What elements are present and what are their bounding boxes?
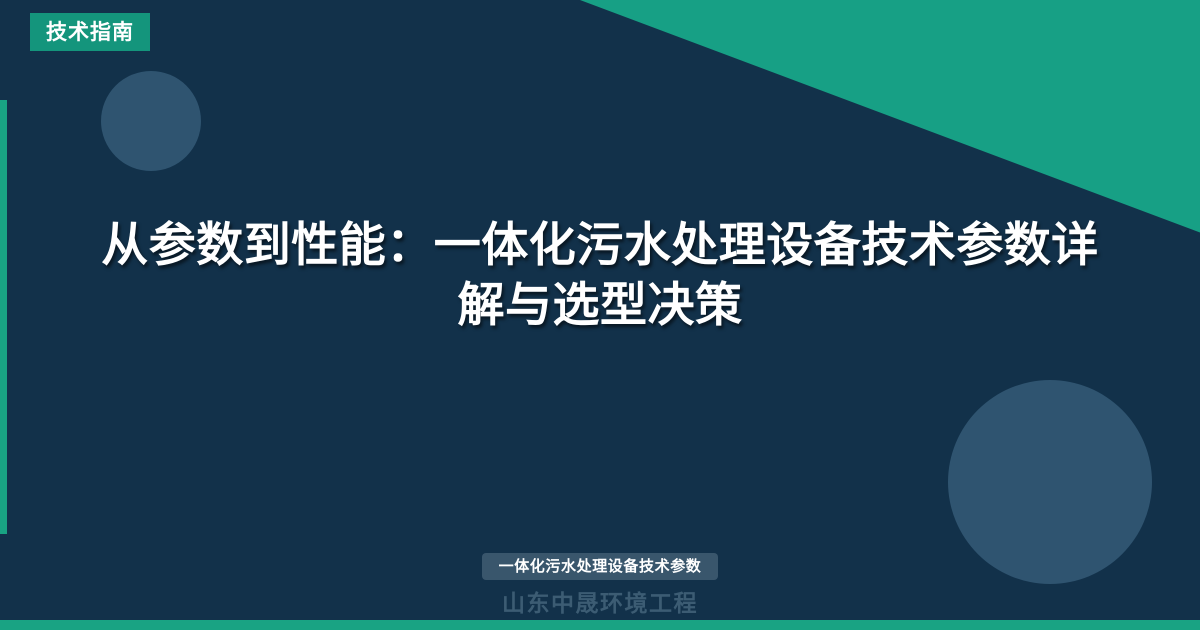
title-block: 从参数到性能：一体化污水处理设备技术参数详解与选型决策 xyxy=(90,215,1110,335)
keyword-tag-row: 一体化污水处理设备技术参数 xyxy=(0,553,1200,580)
category-badge: 技术指南 xyxy=(30,13,150,51)
poster-canvas: 技术指南 从参数到性能：一体化污水处理设备技术参数详解与选型决策 一体化污水处理… xyxy=(0,0,1200,630)
brand-row: 山东中晟环境工程 xyxy=(0,592,1200,615)
poster-content: 技术指南 从参数到性能：一体化污水处理设备技术参数详解与选型决策 一体化污水处理… xyxy=(0,0,1200,630)
keyword-tag: 一体化污水处理设备技术参数 xyxy=(482,553,719,580)
page-title: 从参数到性能：一体化污水处理设备技术参数详解与选型决策 xyxy=(90,215,1110,335)
brand-watermark: 山东中晟环境工程 xyxy=(502,592,698,615)
